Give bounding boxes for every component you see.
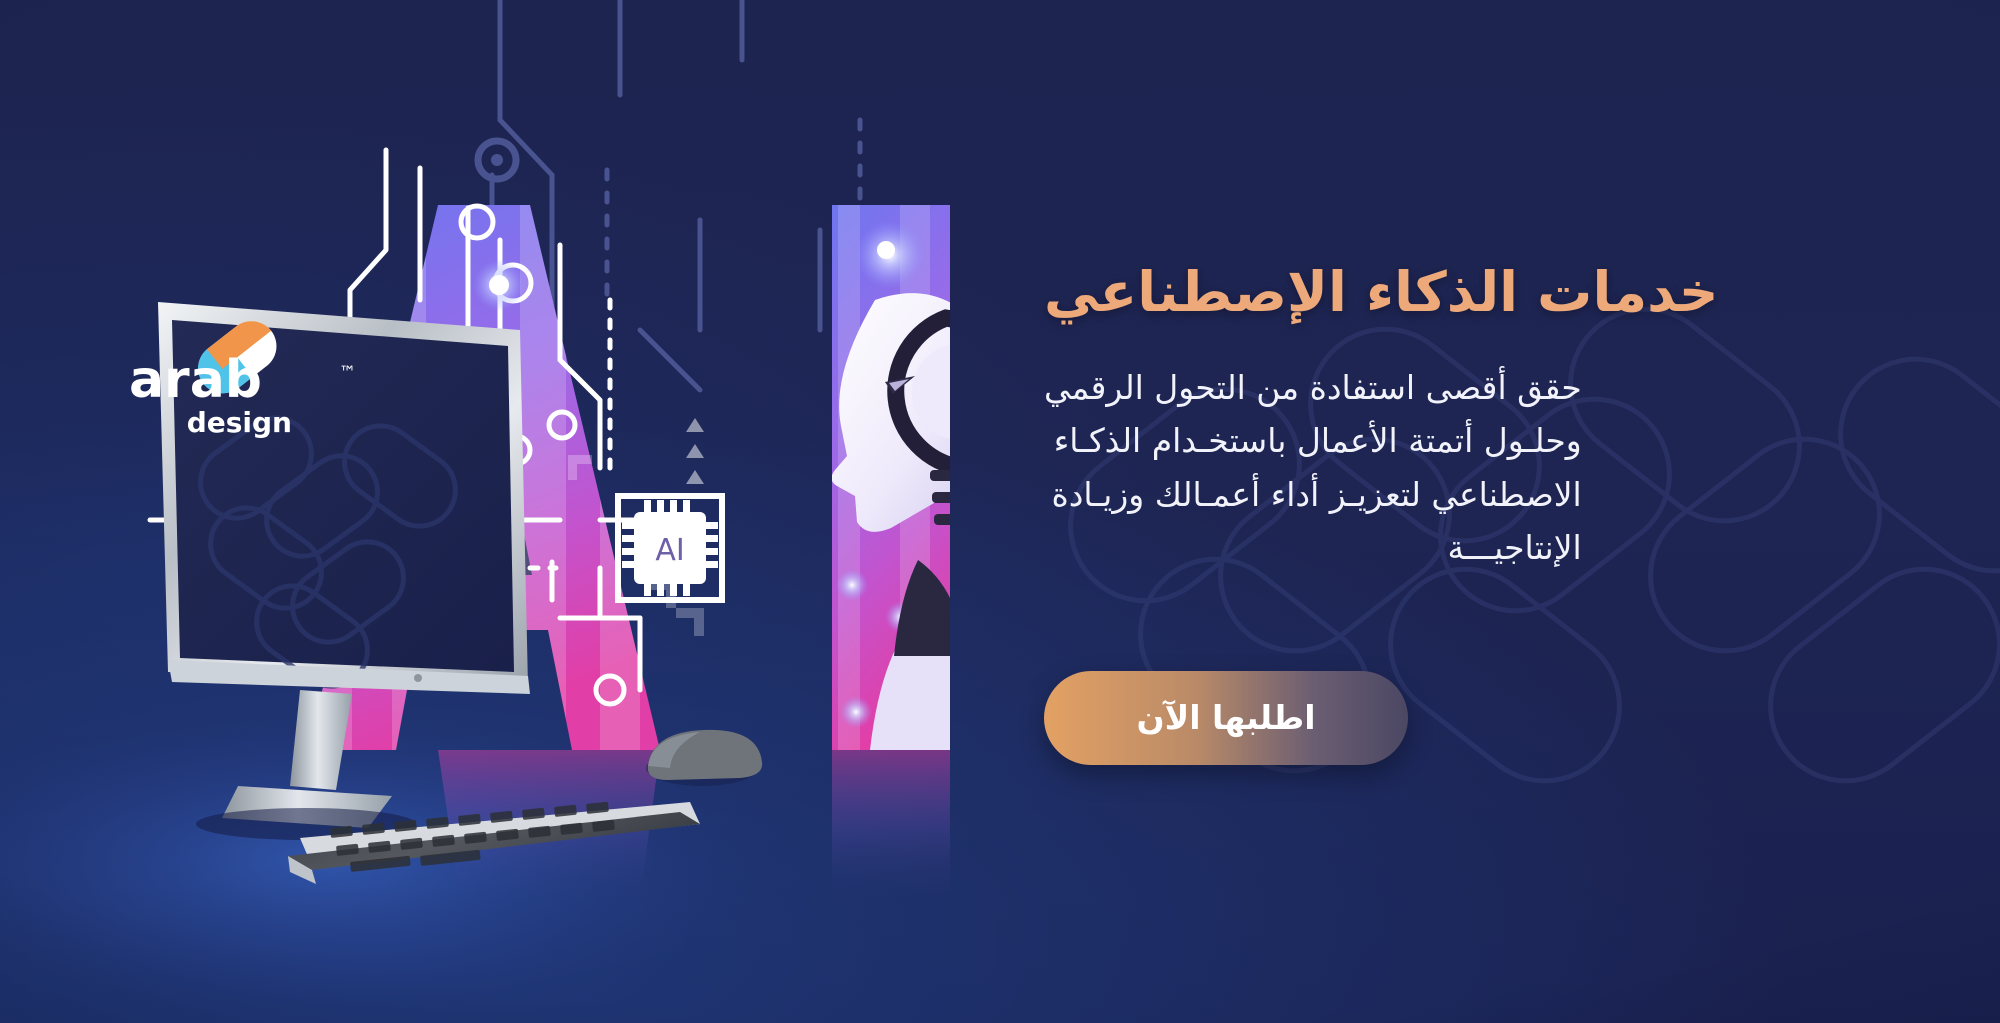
- banner-content: خدمات الذكاء الإصطناعي حقق أقصى استفادة …: [1044, 0, 1924, 1023]
- subcopy-line-1: حقق أقصى استفادة من التحول الرقمي: [1044, 368, 1582, 407]
- subcopy-line-4: الإنتاجيـــة: [1447, 528, 1581, 567]
- subcopy-line-3: الاصطناعي لتعزيـز أداء أعمـالك وزيـادة: [1051, 475, 1581, 514]
- order-now-button[interactable]: اطلبها الآن: [1044, 671, 1408, 765]
- banner-subcopy: حقق أقصى استفادة من التحول الرقمي وحلـول…: [1044, 361, 1582, 575]
- ai-services-banner: AI: [0, 0, 2000, 1023]
- cta-container: اطلبها الآن: [1044, 671, 1408, 765]
- subcopy-line-2: وحلـول أتمتة الأعمال باستخـدام الذكـاء: [1054, 421, 1582, 460]
- page-title: خدمات الذكاء الإصطناعي: [1044, 258, 1719, 327]
